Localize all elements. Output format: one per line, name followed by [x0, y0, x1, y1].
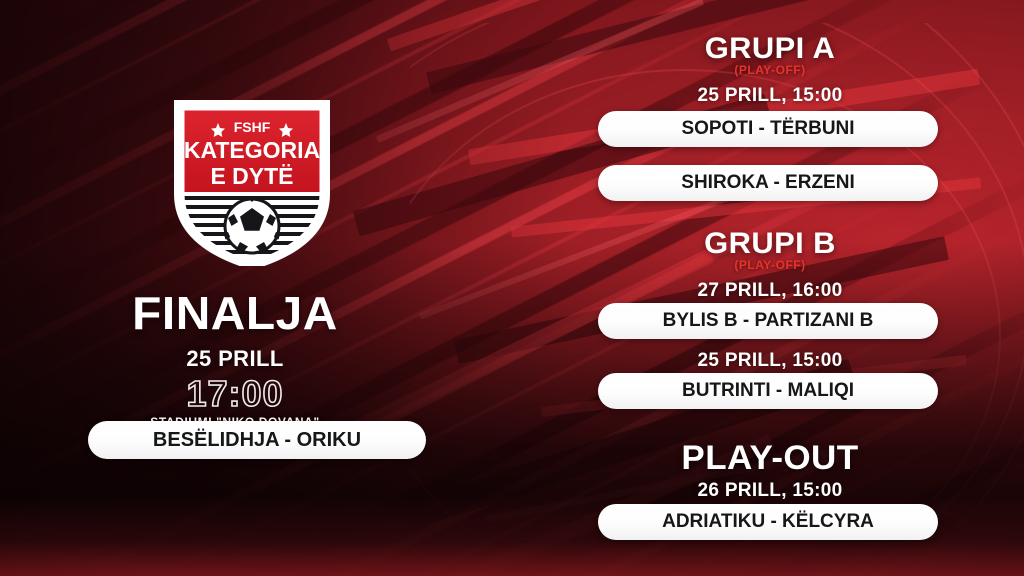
section-title-play-out: PLAY-OUT — [554, 441, 987, 475]
section-title-grupi-b: GRUPI B — [554, 229, 987, 259]
fixture-date-b1: 27 PRILL, 16:00 — [560, 281, 980, 300]
fixture-match-a1: SOPOTI - TËRBUNI — [681, 118, 854, 140]
fixture-pill-a1[interactable]: SOPOTI - TËRBUNI — [598, 111, 938, 147]
final-title: FINALJA — [0, 290, 479, 336]
fixture-pill-po1[interactable]: ADRIATIKU - KËLCYRA — [598, 504, 938, 540]
fixture-pill-a2[interactable]: SHIROKA - ERZENI — [598, 165, 938, 201]
soccer-ball-icon — [224, 199, 281, 254]
fixture-match-po1: ADRIATIKU - KËLCYRA — [662, 511, 874, 533]
fixture-match-b1: BYLIS B - PARTIZANI B — [663, 310, 874, 332]
final-date: 25 PRILL — [0, 346, 470, 372]
fixture-match-a2: SHIROKA - ERZENI — [681, 172, 854, 194]
fixture-pill-b2[interactable]: BUTRINTI - MALIQI — [598, 373, 938, 409]
section-subtitle-grupi-b: (PLAY-OFF) — [560, 259, 980, 271]
fixture-date-b2: 25 PRILL, 15:00 — [560, 351, 980, 370]
section-subtitle-grupi-a: (PLAY-OFF) — [560, 64, 980, 76]
final-match-pill[interactable]: BESËLIDHJA - ORIKU — [88, 421, 426, 459]
fixtures-column: GRUPI A (PLAY-OFF) 25 PRILL, 15:00 SOPOT… — [560, 0, 980, 576]
match-schedule-poster: FSHF KATEGORIA E DYTË — [0, 0, 1024, 576]
final-time: 17:00 — [0, 376, 470, 413]
competition-name-line1: KATEGORIA — [184, 137, 320, 163]
final-column: FSHF KATEGORIA E DYTË — [0, 0, 470, 576]
final-info-block: FINALJA 25 PRILL 17:00 STADIUMI "NIKO DO… — [0, 290, 470, 429]
competition-name-line2: E DYTË — [210, 163, 293, 189]
fixture-match-b2: BUTRINTI - MALIQI — [682, 380, 854, 402]
section-title-grupi-a: GRUPI A — [554, 34, 987, 64]
fixture-date-a1: 25 PRILL, 15:00 — [560, 86, 980, 105]
competition-crest: FSHF KATEGORIA E DYTË — [172, 96, 332, 266]
federation-abbr: FSHF — [234, 119, 271, 135]
fixture-pill-b1[interactable]: BYLIS B - PARTIZANI B — [598, 303, 938, 339]
shield-crest-icon: FSHF KATEGORIA E DYTË — [172, 96, 332, 266]
final-match-label: BESËLIDHJA - ORIKU — [153, 429, 361, 452]
fixture-date-po1: 26 PRILL, 15:00 — [560, 481, 980, 500]
